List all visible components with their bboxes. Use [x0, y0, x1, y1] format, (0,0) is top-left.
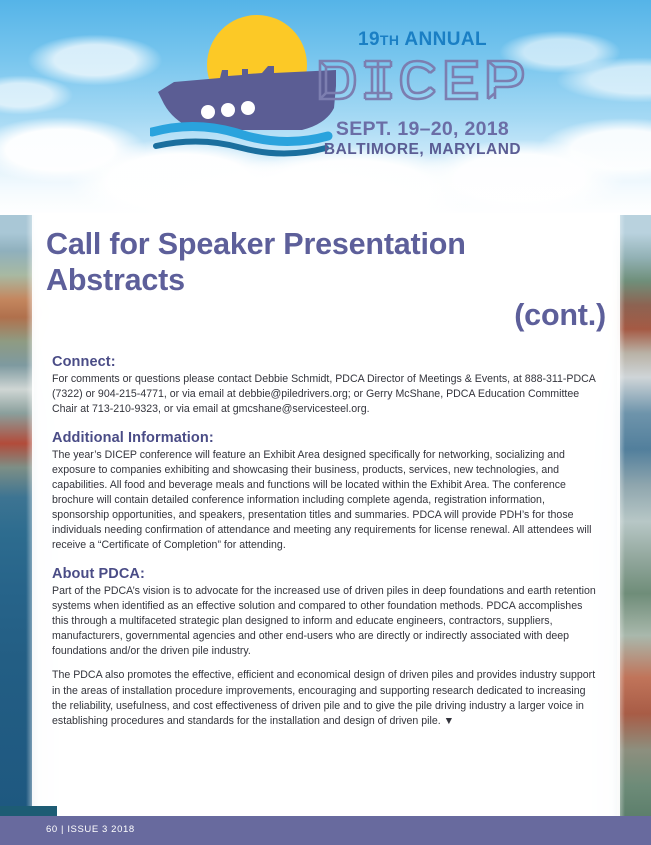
section-paragraph: Part of the PDCA’s vision is to advocate…: [52, 584, 600, 659]
section-paragraph: For comments or questions please contact…: [52, 372, 600, 417]
magazine-page: 19TH ANNUAL: [0, 0, 651, 845]
annual-label: 19TH ANNUAL: [315, 30, 530, 49]
section-connect: Connect: For comments or questions pleas…: [52, 354, 600, 417]
section-heading: About PDCA:: [52, 566, 600, 582]
event-date: SEPT. 19–20, 2018: [315, 118, 530, 140]
annual-word: ANNUAL: [404, 29, 487, 50]
section-about-pdca: About PDCA: Part of the PDCA’s vision is…: [52, 566, 600, 728]
section-paragraph-continued: The PDCA also promotes the effective, ef…: [52, 668, 600, 728]
page-title: Call for Speaker Presentation Abstracts …: [46, 227, 606, 334]
event-location: BALTIMORE, MARYLAND: [315, 141, 530, 159]
section-heading: Connect:: [52, 354, 600, 370]
article-body: Connect: For comments or questions pleas…: [32, 338, 620, 729]
dicep-wordmark: [315, 56, 530, 104]
section-heading: Additional Information:: [52, 430, 600, 446]
section-paragraph: The year’s DICEP conference will feature…: [52, 448, 600, 553]
page-title-line1: Call for Speaker Presentation Abstracts: [46, 227, 606, 298]
logo-text-block: 19TH ANNUAL: [315, 30, 530, 159]
footer-accent-tab: [0, 806, 57, 816]
footer-page-issue: 60 | ISSUE 3 2018: [46, 824, 135, 835]
annual-number: 19: [358, 29, 380, 50]
page-title-block: Call for Speaker Presentation Abstracts …: [32, 213, 620, 338]
page-title-line2: (cont.): [46, 298, 606, 334]
cruise-ship-icon: [150, 46, 340, 161]
content-panel: Call for Speaker Presentation Abstracts …: [32, 213, 620, 816]
annual-ordinal: TH: [380, 32, 399, 48]
page-footer: 60 | ISSUE 3 2018: [0, 816, 651, 845]
dicep-logo-lockup: 19TH ANNUAL: [150, 8, 530, 178]
section-additional-information: Additional Information: The year’s DICEP…: [52, 430, 600, 553]
